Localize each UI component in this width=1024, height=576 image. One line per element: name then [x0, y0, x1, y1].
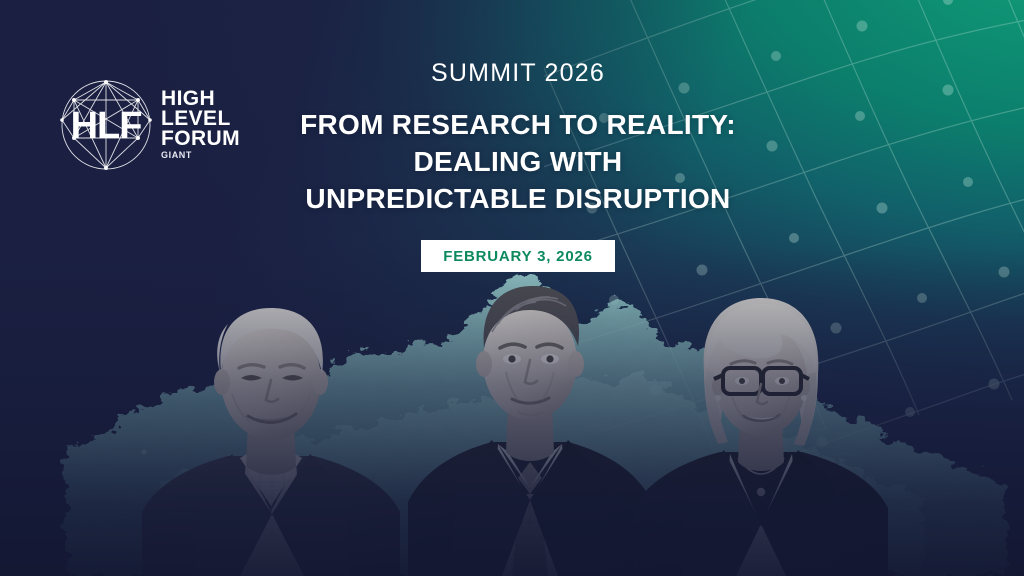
svg-text:HLF: HLF [71, 105, 142, 147]
logo-line-1: HIGH [161, 89, 240, 109]
event-promo-banner: HLF HIGH LEVEL FORUM GIANT SUMMIT 2026 F… [0, 0, 1024, 576]
summit-eyebrow: SUMMIT 2026 [268, 58, 768, 88]
title-line-2: DEALING WITH [268, 143, 768, 180]
bottom-vignette [0, 246, 1024, 576]
title-line-1: FROM RESEARCH TO REALITY: [268, 106, 768, 143]
logo-line-3: FORUM [161, 129, 240, 149]
event-date-badge: FEBRUARY 3, 2026 [421, 240, 615, 272]
hlf-logo[interactable]: HLF HIGH LEVEL FORUM GIANT [55, 72, 255, 177]
headline-block: SUMMIT 2026 FROM RESEARCH TO REALITY: DE… [268, 58, 768, 272]
title-line-3: UNPREDICTABLE DISRUPTION [268, 180, 768, 217]
hlf-polygon-emblem-icon: HLF [55, 74, 157, 176]
hlf-logo-wordmark: HIGH LEVEL FORUM GIANT [161, 89, 240, 160]
logo-line-2: LEVEL [161, 109, 240, 129]
page-title: FROM RESEARCH TO REALITY: DEALING WITH U… [268, 106, 768, 218]
logo-sub-giant: GIANT [161, 151, 240, 160]
